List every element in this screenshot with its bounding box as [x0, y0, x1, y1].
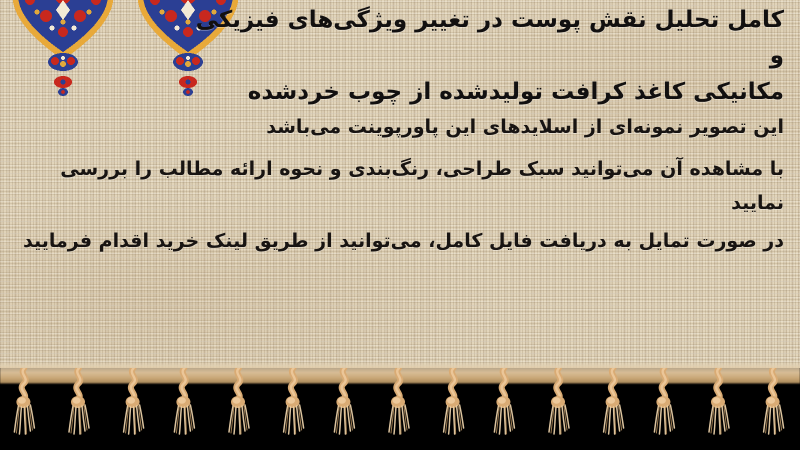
fringe-tassel: [223, 368, 257, 436]
fringe-tassel: [543, 368, 577, 436]
fringe-tassel: [10, 368, 44, 436]
fringe-tassel: [703, 368, 737, 436]
fringe-tassel: [170, 368, 204, 436]
carpet-fringe-tassels: [0, 368, 800, 438]
fringe-tassel: [383, 368, 417, 436]
body-line-3: در صورت تمایل به دریافت فایل کامل، می‌تو…: [14, 224, 784, 258]
fringe-tassel: [276, 368, 310, 436]
fringe-tassel: [650, 368, 684, 436]
slide-body: این تصویر نمونه‌ای از اسلایدهای این پاور…: [14, 110, 784, 258]
slide-title: کامل تحلیل نقش پوست در تغییر ویژگی‌های ف…: [184, 2, 784, 110]
fringe-tassel: [596, 368, 630, 436]
fringe-tassel: [436, 368, 470, 436]
fringe-tassel: [756, 368, 790, 436]
fringe-tassel: [116, 368, 150, 436]
fringe-tassel: [63, 368, 97, 436]
title-line-2: مکانیکی کاغذ کرافت تولیدشده از چوب خردشد…: [184, 74, 784, 110]
body-line-1: این تصویر نمونه‌ای از اسلایدهای این پاور…: [14, 110, 784, 144]
fringe-tassel: [330, 368, 364, 436]
title-line-1: کامل تحلیل نقش پوست در تغییر ویژگی‌های ف…: [184, 2, 784, 74]
slide-canvas: کامل تحلیل نقش پوست در تغییر ویژگی‌های ف…: [0, 0, 800, 450]
body-line-2: با مشاهده آن می‌توانید سبک طراحی، رنگ‌بن…: [14, 152, 784, 220]
fringe-tassel: [490, 368, 524, 436]
persian-ornament-drop-left: [43, 52, 83, 98]
